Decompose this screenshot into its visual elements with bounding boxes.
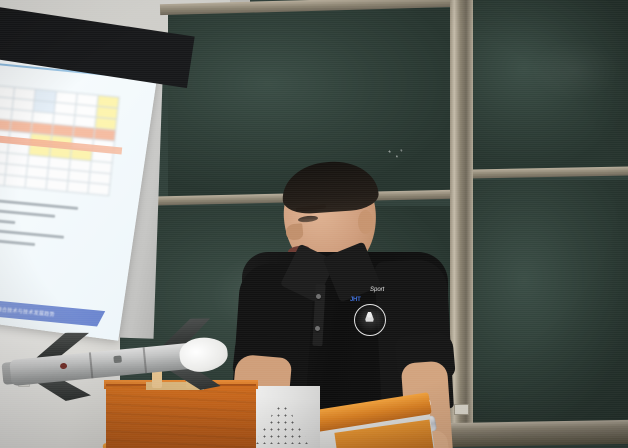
board-hardware-label bbox=[454, 404, 469, 415]
board-rail-vertical-inner bbox=[466, 0, 473, 442]
wood-grain bbox=[106, 386, 256, 448]
ear bbox=[358, 210, 373, 234]
slide-table-cell bbox=[88, 183, 110, 196]
hair bbox=[280, 159, 379, 216]
slide-footer-ribbon: AGRST 融合技术与技术发展趋势 bbox=[0, 295, 105, 327]
board-rail-middle-right bbox=[466, 166, 628, 178]
shirt-button bbox=[316, 294, 321, 299]
shirt-brand-script: Sport bbox=[370, 287, 384, 293]
board-rail-vertical bbox=[450, 0, 467, 442]
slide-text-line bbox=[0, 192, 78, 210]
slide-table-cell bbox=[4, 175, 26, 188]
slide-footer-text: AGRST 融合技术与技术发展趋势 bbox=[0, 303, 55, 317]
chalk-smudge bbox=[530, 40, 620, 100]
shirt-brand-text: JHT bbox=[350, 297, 360, 303]
display-box bbox=[106, 384, 256, 448]
slide-body-text bbox=[0, 192, 92, 258]
slide-table-cell bbox=[46, 179, 68, 192]
missile-port bbox=[113, 355, 122, 363]
slide-table-cell bbox=[67, 181, 89, 194]
presentation-scene-photo: BRST AGRST 融合技术与技术发展趋势 JHT bbox=[0, 0, 628, 448]
chalk-marks bbox=[386, 148, 404, 160]
slide-table-cell bbox=[25, 177, 47, 190]
slide-text-line bbox=[0, 221, 64, 238]
shirt-button bbox=[315, 326, 320, 331]
board-panel-bottom-right bbox=[468, 180, 628, 430]
shirt-crest-emblem-icon bbox=[354, 304, 386, 336]
missile-body bbox=[9, 342, 199, 386]
